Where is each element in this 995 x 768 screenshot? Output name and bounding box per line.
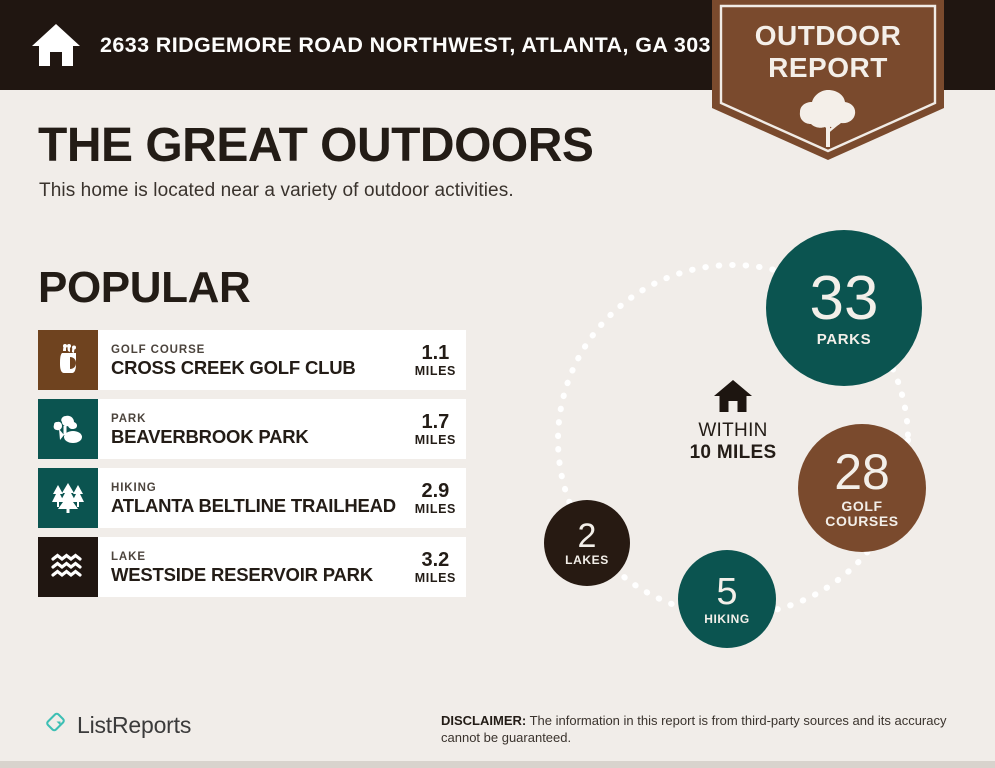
distance-value: 3.2	[415, 550, 456, 571]
list-item-category: HIKING	[111, 482, 396, 495]
list-item-distance: 1.7 MILES	[407, 412, 456, 447]
within-10-miles-chart: 33 PARKS 28 GOLF COURSES 2 LAKES 5 HIKIN…	[528, 228, 978, 648]
list-item-texts: GOLF COURSE CROSS CREEK GOLF CLUB	[111, 342, 356, 378]
bubble-golf-label-line2: COURSES	[825, 513, 898, 529]
bubble-hiking[interactable]: 5 HIKING	[678, 550, 776, 648]
list-item-distance: 2.9 MILES	[407, 481, 456, 516]
list-item-name: ATLANTA BELTLINE TRAILHEAD	[111, 495, 396, 516]
bubble-hiking-value: 5	[716, 573, 737, 611]
home-icon	[30, 21, 82, 69]
listreports-logo-icon	[42, 710, 68, 741]
list-item-texts: PARK BEAVERBROOK PARK	[111, 411, 309, 447]
water-waves-icon	[38, 537, 98, 597]
list-item-texts: LAKE WESTSIDE RESERVOIR PARK	[111, 549, 373, 585]
list-item-category: GOLF COURSE	[111, 344, 356, 357]
list-item-body: LAKE WESTSIDE RESERVOIR PARK 3.2 MILES	[98, 537, 466, 597]
list-item-distance: 1.1 MILES	[407, 343, 456, 378]
outdoor-report-page: 2633 RIDGEMORE ROAD NORTHWEST, ATLANTA, …	[0, 0, 995, 768]
distance-unit: MILES	[415, 571, 456, 585]
bubble-parks[interactable]: 33 PARKS	[766, 230, 922, 386]
bubble-lakes[interactable]: 2 LAKES	[544, 500, 630, 586]
distance-value: 2.9	[415, 481, 456, 502]
within-label: WITHIN	[668, 419, 798, 442]
outdoor-report-badge: OUTDOOR REPORT	[712, 0, 944, 160]
bubble-lakes-value: 2	[578, 519, 597, 553]
disclaimer: DISCLAIMER: The information in this repo…	[441, 712, 971, 746]
bottom-divider	[0, 761, 995, 768]
list-item-name: BEAVERBROOK PARK	[111, 426, 309, 447]
popular-list: GOLF COURSE CROSS CREEK GOLF CLUB 1.1 MI…	[38, 330, 466, 597]
center-marker: WITHIN 10 MILES	[668, 378, 798, 463]
property-address: 2633 RIDGEMORE ROAD NORTHWEST, ATLANTA, …	[100, 33, 736, 58]
list-item-texts: HIKING ATLANTA BELTLINE TRAILHEAD	[111, 480, 396, 516]
list-item-body: GOLF COURSE CROSS CREEK GOLF CLUB 1.1 MI…	[98, 330, 466, 390]
list-item-body: HIKING ATLANTA BELTLINE TRAILHEAD 2.9 MI…	[98, 468, 466, 528]
list-item-name: WESTSIDE RESERVOIR PARK	[111, 564, 373, 585]
list-item[interactable]: LAKE WESTSIDE RESERVOIR PARK 3.2 MILES	[38, 537, 466, 597]
bubble-parks-label: PARKS	[817, 332, 871, 348]
distance-unit: MILES	[415, 433, 456, 447]
disclaimer-label: DISCLAIMER:	[441, 713, 526, 728]
bubble-golf-courses[interactable]: 28 GOLF COURSES	[798, 424, 926, 552]
distance-value: 1.1	[415, 343, 456, 364]
bubble-golf-label-line1: GOLF	[841, 498, 882, 514]
badge-title-line1: OUTDOOR	[755, 20, 902, 51]
golf-bag-icon	[38, 330, 98, 390]
bubble-hiking-label: HIKING	[704, 613, 750, 626]
list-item-category: PARK	[111, 413, 309, 426]
park-trees-icon	[38, 399, 98, 459]
page-title: THE GREAT OUTDOORS	[38, 118, 593, 173]
badge-title-line2: REPORT	[712, 52, 944, 84]
bubble-golf-label: GOLF COURSES	[825, 499, 898, 528]
list-item[interactable]: HIKING ATLANTA BELTLINE TRAILHEAD 2.9 MI…	[38, 468, 466, 528]
list-item-category: LAKE	[111, 551, 373, 564]
list-item[interactable]: PARK BEAVERBROOK PARK 1.7 MILES	[38, 399, 466, 459]
list-item-body: PARK BEAVERBROOK PARK 1.7 MILES	[98, 399, 466, 459]
within-distance: 10 MILES	[668, 442, 798, 463]
list-item-name: CROSS CREEK GOLF CLUB	[111, 357, 356, 378]
list-item-distance: 3.2 MILES	[407, 550, 456, 585]
listreports-logo[interactable]: ListReports	[42, 710, 191, 741]
header-content: 2633 RIDGEMORE ROAD NORTHWEST, ATLANTA, …	[30, 0, 736, 90]
distance-value: 1.7	[415, 412, 456, 433]
home-icon	[668, 378, 798, 414]
page-subtitle: This home is located near a variety of o…	[39, 180, 514, 202]
listreports-logo-text: ListReports	[77, 712, 191, 739]
pine-trees-icon	[38, 468, 98, 528]
badge-title: OUTDOOR REPORT	[712, 20, 944, 84]
bubble-golf-value: 28	[834, 447, 890, 497]
bubble-parks-value: 33	[810, 268, 879, 330]
list-item[interactable]: GOLF COURSE CROSS CREEK GOLF CLUB 1.1 MI…	[38, 330, 466, 390]
distance-unit: MILES	[415, 502, 456, 516]
distance-unit: MILES	[415, 364, 456, 378]
bubble-lakes-label: LAKES	[565, 554, 609, 567]
popular-heading: POPULAR	[38, 263, 250, 313]
